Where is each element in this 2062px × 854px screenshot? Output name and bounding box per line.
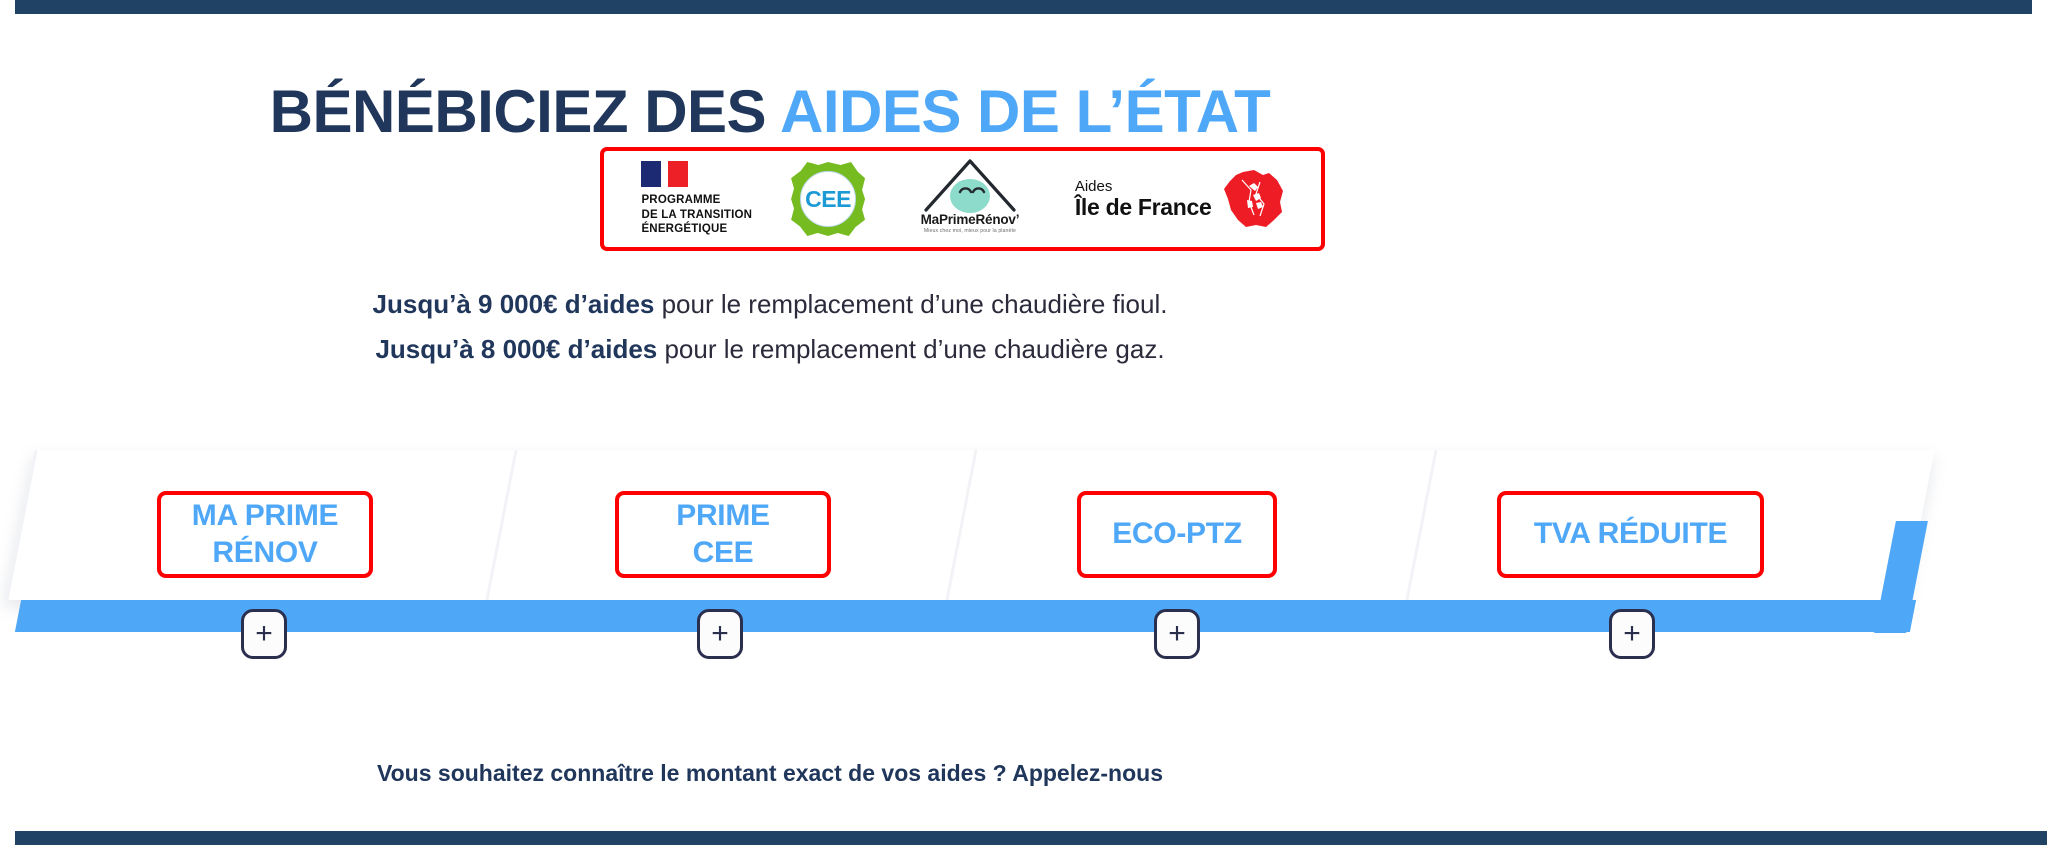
- pte-line-1: PROGRAMME: [641, 193, 752, 207]
- aid-amount-line: Jusqu’à 9 000€ d’aides pour le remplacem…: [0, 282, 1540, 327]
- aid-amount-strong: Jusqu’à 9 000€ d’aides: [373, 289, 655, 319]
- aid-card-label: MA PRIMERÉNOV: [192, 498, 339, 571]
- idf-line-1: Aides: [1075, 179, 1212, 195]
- expand-button-ma-prime-renov[interactable]: +: [241, 609, 287, 659]
- cee-label: CEE: [805, 186, 851, 213]
- bottom-accent-bar: [15, 831, 2047, 845]
- aid-card-tva-reduite[interactable]: TVA RÉDUITE: [1497, 491, 1764, 578]
- aid-amount-strong: Jusqu’à 8 000€ d’aides: [375, 334, 657, 364]
- ile-de-france-map-icon: [1222, 170, 1284, 228]
- maprimerenov-house-icon: [922, 155, 1018, 213]
- pte-line-3: ÉNERGÉTIQUE: [641, 222, 752, 236]
- panel-divider: [5, 450, 37, 600]
- aid-card-prime-cee[interactable]: PRIMECEE: [615, 491, 831, 578]
- aid-amount-rest: pour le remplacement d’une chaudière gaz…: [657, 334, 1164, 364]
- page-title: BÉNÉBICIEZ DES AIDES DE L’ÉTAT: [0, 80, 1540, 143]
- aid-card-label: PRIMECEE: [676, 498, 770, 571]
- partner-logos-strip: PROGRAMME DE LA TRANSITION ÉNERGÉTIQUE C…: [600, 147, 1325, 251]
- french-flag-icon: [641, 161, 752, 187]
- aid-amount-line: Jusqu’à 8 000€ d’aides pour le remplacem…: [0, 327, 1540, 372]
- plus-icon: +: [255, 619, 273, 649]
- plus-icon: +: [711, 619, 729, 649]
- panel-divider: [1405, 450, 1437, 600]
- pte-line-2: DE LA TRANSITION: [641, 208, 752, 222]
- aid-card-ma-prime-renov[interactable]: MA PRIMERÉNOV: [157, 491, 373, 578]
- aid-amount-rest: pour le remplacement d’une chaudière fio…: [654, 289, 1167, 319]
- aid-card-label: TVA RÉDUITE: [1534, 516, 1727, 553]
- top-accent-bar: [15, 0, 2032, 14]
- expand-button-prime-cee[interactable]: +: [697, 609, 743, 659]
- aids-panel: MA PRIMERÉNOV + PRIMECEE + ECO-PTZ + TVA…: [0, 435, 2062, 665]
- expand-button-eco-ptz[interactable]: +: [1154, 609, 1200, 659]
- logo-maprimerenov: MaPrimeRénov’ Mieux chez moi, mieux pour…: [904, 155, 1036, 243]
- aid-card-eco-ptz[interactable]: ECO-PTZ: [1077, 491, 1277, 578]
- maprimerenov-subtitle: Mieux chez moi, mieux pour la planète: [904, 228, 1036, 234]
- maprimerenov-title: MaPrimeRénov’: [904, 212, 1036, 227]
- logo-cee: CEE: [791, 162, 865, 236]
- panel-divider: [945, 450, 977, 600]
- idf-line-2: Île de France: [1075, 195, 1212, 219]
- page-title-light: AIDES DE L’ÉTAT: [780, 78, 1270, 145]
- aid-card-label: ECO-PTZ: [1112, 516, 1242, 553]
- expand-button-tva-reduite[interactable]: +: [1609, 609, 1655, 659]
- contact-cta-text: Vous souhaitez connaître le montant exac…: [0, 760, 1540, 787]
- plus-icon: +: [1168, 619, 1186, 649]
- plus-icon: +: [1623, 619, 1641, 649]
- logo-aides-ile-de-france: Aides Île de France: [1075, 170, 1284, 228]
- panel-divider: [485, 450, 517, 600]
- aid-amounts: Jusqu’à 9 000€ d’aides pour le remplacem…: [0, 282, 1540, 371]
- logo-programme-transition-energetique: PROGRAMME DE LA TRANSITION ÉNERGÉTIQUE: [641, 161, 752, 236]
- page-title-dark: BÉNÉBICIEZ DES: [270, 78, 780, 145]
